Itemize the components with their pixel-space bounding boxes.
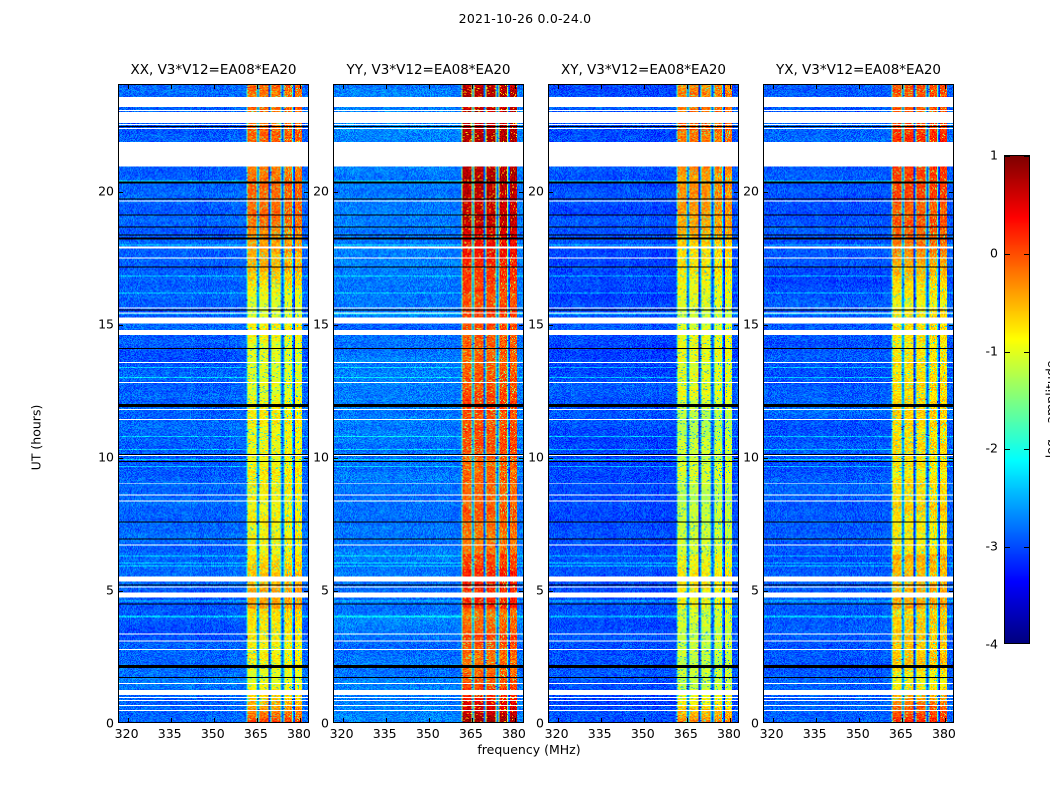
y-tick-mark [549,591,553,592]
y-tick-label: 15 [98,316,114,331]
x-tick-label: 365 [674,726,698,741]
colorbar[interactable] [1004,155,1030,644]
x-tick-mark [171,85,172,89]
x-tick-mark [214,85,215,89]
colorbar-tick-labels: -4-3-2-101 [962,155,998,644]
y-tick-mark [949,591,953,592]
y-tick-mark [119,458,123,459]
colorbar-tick-label: -2 [986,441,998,456]
x-tick-label: 350 [631,726,655,741]
x-tick-mark [687,718,688,722]
colorbar-tick-mark [1024,449,1029,450]
y-tick-labels-xy: 05101520 [510,84,544,723]
y-tick-label: 20 [528,183,544,198]
x-tick-mark [257,718,258,722]
panel-title-xy: XY, V3*V12=EA08*EA20 [548,60,739,80]
x-axis-label: frequency (MHz) [118,742,940,757]
panel-title-yy: YY, V3*V12=EA08*EA20 [333,60,524,80]
y-tick-label: 0 [106,716,114,731]
x-tick-label: 335 [803,726,827,741]
y-tick-mark [764,325,768,326]
y-tick-label: 10 [743,449,759,464]
y-tick-label: 0 [751,716,759,731]
colorbar-label-base: log [1043,439,1050,458]
y-tick-label: 20 [98,183,114,198]
colorbar-tick-mark [1005,547,1010,548]
x-tick-mark [128,718,129,722]
x-tick-mark [429,85,430,89]
x-tick-mark [429,718,430,722]
x-tick-label: 380 [932,726,956,741]
y-tick-label: 10 [528,449,544,464]
spectrogram-panel-yy[interactable] [333,84,524,723]
x-tick-mark [816,85,817,89]
x-tick-mark [644,85,645,89]
x-tick-mark [257,85,258,89]
x-tick-mark [601,85,602,89]
x-tick-mark [128,85,129,89]
x-tick-label: 335 [373,726,397,741]
x-tick-label: 335 [158,726,182,741]
spectrogram-panel-xy[interactable] [548,84,739,723]
y-tick-mark [949,325,953,326]
colorbar-tick-mark [1024,156,1029,157]
colorbar-label-tail: amplitude [1043,360,1050,427]
y-tick-mark [549,325,553,326]
y-tick-label: 20 [313,183,329,198]
x-tick-mark [601,718,602,722]
y-tick-mark [549,458,553,459]
y-tick-label: 5 [321,582,329,597]
x-tick-label: 320 [115,726,139,741]
x-tick-mark [773,85,774,89]
y-tick-label: 10 [98,449,114,464]
y-tick-mark [119,325,123,326]
x-tick-label: 350 [846,726,870,741]
x-tick-mark [859,718,860,722]
spectrogram-image-yy [334,85,523,722]
x-tick-label: 380 [717,726,741,741]
y-tick-label: 0 [536,716,544,731]
colorbar-tick-mark [1024,254,1029,255]
y-axis-label: UT (hours) [29,368,44,508]
x-tick-mark [902,718,903,722]
spectrogram-image-yx [764,85,953,722]
y-tick-label: 15 [528,316,544,331]
y-tick-mark [334,458,338,459]
figure-suptitle: 2021-10-26 0.0-24.0 [0,11,1050,26]
colorbar-tick-mark [1005,449,1010,450]
x-tick-label: 365 [889,726,913,741]
x-tick-label: 350 [201,726,225,741]
x-tick-label: 365 [244,726,268,741]
colorbar-tick-mark [1005,254,1010,255]
y-tick-labels-yy: 05101520 [295,84,329,723]
x-tick-mark [386,718,387,722]
x-tick-label: 320 [545,726,569,741]
y-tick-labels-yx: 05101520 [725,84,759,723]
y-tick-mark [119,591,123,592]
colorbar-tick-label: 0 [990,245,998,260]
x-tick-mark [816,718,817,722]
y-tick-label: 5 [751,582,759,597]
x-tick-mark [558,718,559,722]
x-tick-label: 320 [330,726,354,741]
y-tick-label: 5 [106,582,114,597]
colorbar-tick-label: 1 [990,148,998,163]
x-tick-mark [687,85,688,89]
y-tick-label: 15 [313,316,329,331]
x-tick-label: 380 [502,726,526,741]
y-tick-label: 0 [321,716,329,731]
spectrogram-panel-xx[interactable] [118,84,309,723]
x-tick-label: 335 [588,726,612,741]
x-tick-mark [171,718,172,722]
x-tick-mark [343,718,344,722]
colorbar-label: log10 amplitude [1043,329,1050,489]
y-tick-mark [119,192,123,193]
x-tick-mark [859,85,860,89]
x-tick-mark [945,85,946,89]
colorbar-tick-mark [1024,352,1029,353]
y-tick-mark [949,192,953,193]
y-tick-mark [764,192,768,193]
colorbar-tick-label: -1 [986,343,998,358]
x-tick-mark [214,718,215,722]
y-tick-mark [334,325,338,326]
spectrogram-panel-yx[interactable] [763,84,954,723]
colorbar-tick-mark [1024,547,1029,548]
spectrogram-image-xx [119,85,308,722]
y-tick-mark [764,591,768,592]
x-tick-mark [945,718,946,722]
y-tick-label: 20 [743,183,759,198]
y-tick-mark [949,458,953,459]
colorbar-tick-label: -4 [986,637,998,652]
x-tick-mark [773,718,774,722]
x-tick-label: 365 [459,726,483,741]
x-tick-label: 320 [760,726,784,741]
panel-title-yx: YX, V3*V12=EA08*EA20 [763,60,954,80]
x-tick-mark [386,85,387,89]
panel-title-xx: XX, V3*V12=EA08*EA20 [118,60,309,80]
y-tick-label: 10 [313,449,329,464]
colorbar-tick-mark [1005,156,1010,157]
x-tick-mark [644,718,645,722]
y-tick-mark [334,591,338,592]
x-tick-mark [902,85,903,89]
colorbar-tick-label: -3 [986,539,998,554]
x-tick-mark [343,85,344,89]
figure-canvas: 2021-10-26 0.0-24.0 XX, V3*V12=EA08*EA20… [0,0,1050,800]
y-tick-mark [334,192,338,193]
x-tick-mark [472,718,473,722]
y-tick-label: 5 [536,582,544,597]
y-tick-label: 15 [743,316,759,331]
y-tick-mark [549,192,553,193]
x-tick-label: 350 [416,726,440,741]
x-tick-mark [472,85,473,89]
y-tick-labels-xx: 05101520 [80,84,114,723]
y-tick-mark [764,458,768,459]
spectrogram-image-xy [549,85,738,722]
x-tick-label: 380 [287,726,311,741]
x-tick-mark [558,85,559,89]
colorbar-tick-mark [1005,352,1010,353]
